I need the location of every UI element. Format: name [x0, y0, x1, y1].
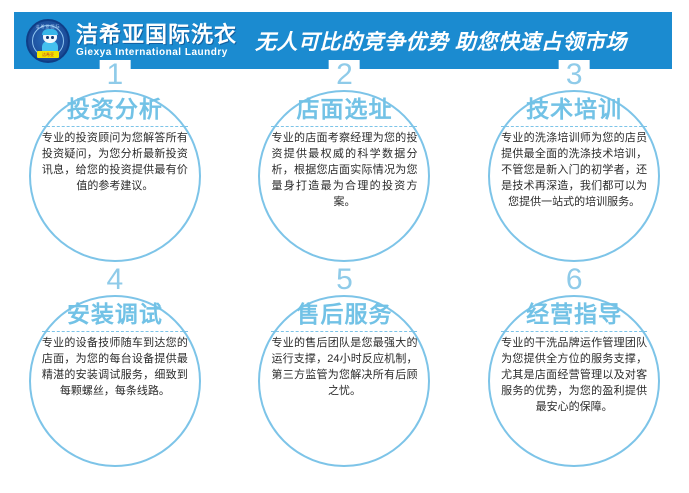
service-divider [271, 331, 417, 332]
service-content: 安装调试 专业的设备技师随车到达您的店面，为您的每台设备提供最精湛的安装调试服务… [37, 301, 193, 399]
service-divider [271, 126, 417, 127]
service-description: 专业的投资顾问为您解答所有投资疑问，为您分析最新投资讯息，给您的投资提供最有价值… [42, 130, 188, 194]
service-card-3[interactable]: 3 技术培训 专业的洗涤培训师为您的店员提供最全面的洗涤技术培训，不管您是新入门… [459, 76, 689, 281]
service-content: 技术培训 专业的洗涤培训师为您的店员提供最全面的洗涤技术培训，不管您是新入门的初… [496, 96, 652, 210]
service-number: 3 [559, 60, 590, 90]
logo-arc-text: 洁希亚国际 [28, 24, 68, 29]
service-content: 售后服务 专业的售后团队是您最强大的运行支撑，24小时反应机制，第三方监管为您解… [266, 301, 422, 399]
service-description: 专业的洗涤培训师为您的店员提供最全面的洗涤技术培训，不管您是新入门的初学者，还是… [501, 130, 647, 210]
brand-logo[interactable]: 洁希亚国际 洁希亚 洁希亚国际洗衣 Giexya International L… [26, 19, 237, 63]
service-description: 专业的设备技师随车到达您的店面，为您的每台设备提供最精湛的安装调试服务，细致到每… [42, 335, 188, 399]
service-title: 售后服务 [266, 301, 422, 327]
service-divider [42, 126, 188, 127]
service-number: 2 [329, 60, 360, 90]
service-content: 投资分析 专业的投资顾问为您解答所有投资疑问，为您分析最新投资讯息，给您的投资提… [37, 96, 193, 194]
service-number: 4 [99, 265, 130, 295]
service-title: 技术培训 [496, 96, 652, 122]
service-card-1[interactable]: 1 投资分析 专业的投资顾问为您解答所有投资疑问，为您分析最新投资讯息，给您的投… [0, 76, 230, 281]
logo-label-strip: 洁希亚 [37, 51, 59, 58]
mascot-hair [42, 29, 58, 35]
service-divider [501, 331, 647, 332]
logo-badge-icon: 洁希亚国际 洁希亚 [26, 19, 70, 63]
service-card-4[interactable]: 4 安装调试 专业的设备技师随车到达您的店面，为您的每台设备提供最精湛的安装调试… [0, 281, 230, 486]
header-tagline: 无人可比的竞争优势 助您快速占领市场 [255, 26, 627, 56]
mascot-eye-right [51, 36, 54, 39]
service-card-5[interactable]: 5 售后服务 专业的售后团队是您最强大的运行支撑，24小时反应机制，第三方监管为… [230, 281, 460, 486]
service-number: 6 [559, 265, 590, 295]
service-description: 专业的店面考察经理为您的投资提供最权威的科学数据分析，根据您店面实际情况为您量身… [271, 130, 417, 210]
service-number: 1 [99, 60, 130, 90]
service-card-2[interactable]: 2 店面选址 专业的店面考察经理为您的投资提供最权威的科学数据分析，根据您店面实… [230, 76, 460, 281]
service-content: 经营指导 专业的干洗品牌运作管理团队为您提供全方位的服务支撑，尤其是店面经营管理… [496, 301, 652, 415]
service-title: 经营指导 [496, 301, 652, 327]
brand-name-en: Giexya International Laundry [76, 47, 237, 59]
service-description: 专业的干洗品牌运作管理团队为您提供全方位的服务支撑，尤其是店面经营管理以及对客服… [501, 335, 647, 415]
service-title: 投资分析 [37, 96, 193, 122]
service-grid: 1 投资分析 专业的投资顾问为您解答所有投资疑问，为您分析最新投资讯息，给您的投… [0, 76, 689, 486]
service-title: 店面选址 [266, 96, 422, 122]
service-content: 店面选址 专业的店面考察经理为您的投资提供最权威的科学数据分析，根据您店面实际情… [266, 96, 422, 210]
service-divider [501, 126, 647, 127]
service-number: 5 [329, 265, 360, 295]
service-divider [42, 331, 188, 332]
service-description: 专业的售后团队是您最强大的运行支撑，24小时反应机制，第三方监管为您解决所有后顾… [271, 335, 417, 399]
brand-text: 洁希亚国际洗衣 Giexya International Laundry [76, 23, 237, 59]
brand-name-cn: 洁希亚国际洗衣 [76, 23, 237, 47]
service-title: 安装调试 [37, 301, 193, 327]
mascot-icon [40, 30, 60, 54]
mascot-eye-left [46, 36, 49, 39]
service-card-6[interactable]: 6 经营指导 专业的干洗品牌运作管理团队为您提供全方位的服务支撑，尤其是店面经营… [459, 281, 689, 486]
